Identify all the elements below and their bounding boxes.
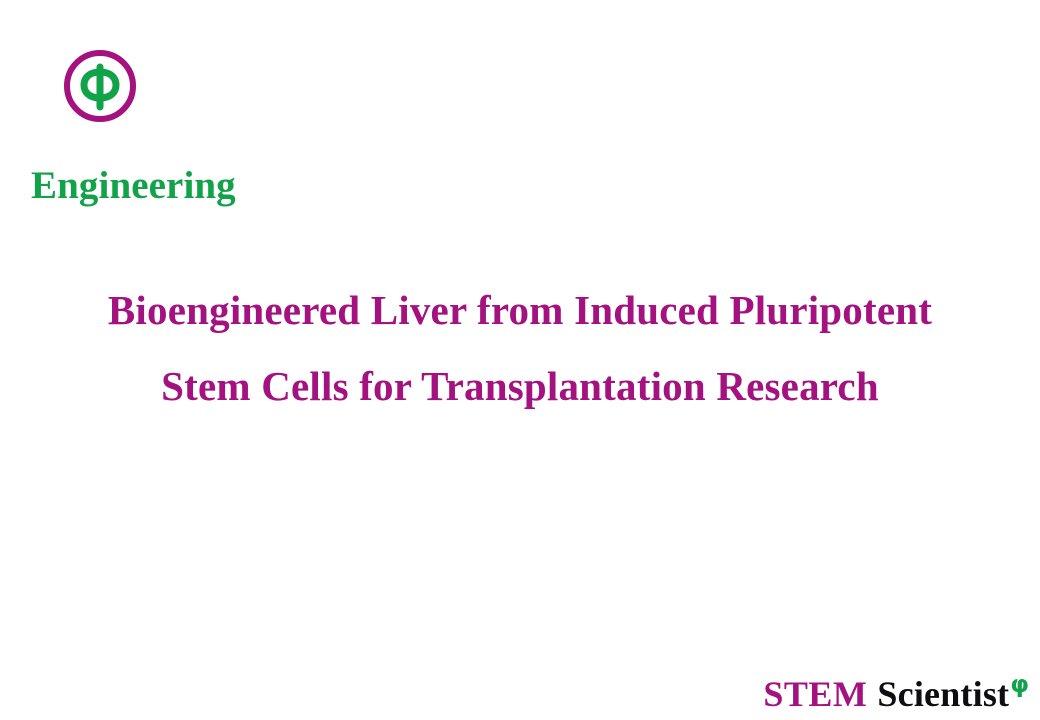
brand-name-scientist: Scientist (877, 676, 1009, 712)
phi-circle-logo-icon (62, 48, 138, 124)
brand-name-stem: STEM (763, 676, 867, 712)
page-title: Bioengineered Liver from Induced Pluripo… (0, 272, 1040, 424)
brand-footer: STEM Scientist φ (763, 676, 1028, 712)
title-line-2: Stem Cells for Transplantation Research (0, 348, 1040, 424)
phi-superscript-icon: φ (1010, 672, 1029, 696)
title-slide: Engineering Bioengineered Liver from Ind… (0, 0, 1040, 720)
category-label: Engineering (31, 166, 236, 207)
title-line-1: Bioengineered Liver from Induced Pluripo… (0, 272, 1040, 348)
